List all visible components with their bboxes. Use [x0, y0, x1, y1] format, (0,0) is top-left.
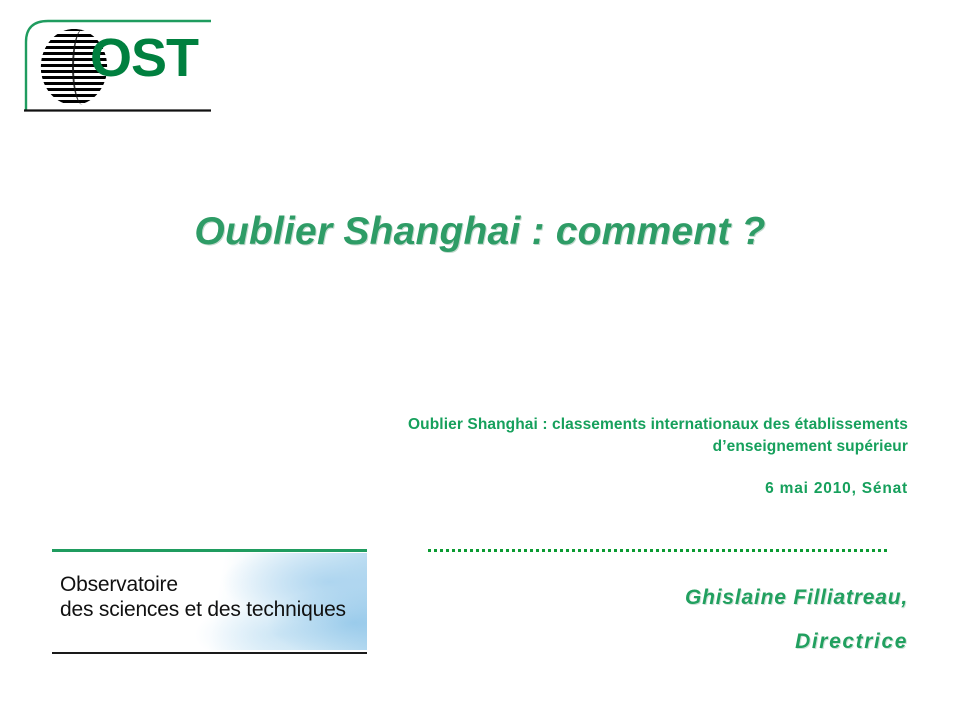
- observatoire-bottom-rule: [52, 652, 367, 654]
- title-slide: OST Oublier Shanghai : comment ? Oublier…: [0, 0, 960, 720]
- presenter-name: Ghislaine Filliatreau,: [488, 586, 908, 610]
- observatoire-logo-block: Observatoire des sciences et des techniq…: [52, 549, 367, 654]
- presenter-block: Ghislaine Filliatreau, Directrice: [488, 586, 908, 654]
- subtitle-line-2: d’enseignement supérieur: [268, 436, 908, 458]
- globe-meridian-icon: [72, 29, 90, 105]
- ost-logo: OST: [22, 18, 212, 112]
- subtitle-line-1: Oublier Shanghai : classements internati…: [268, 414, 908, 436]
- page-title: Oublier Shanghai : comment ?: [0, 210, 960, 254]
- observatoire-name: Observatoire des sciences et des techniq…: [60, 572, 346, 622]
- observatoire-top-rule: [52, 549, 367, 552]
- ost-wordmark: OST: [90, 30, 198, 86]
- event-date: 6 mai 2010, Sénat: [268, 480, 908, 498]
- observatoire-line-1: Observatoire: [60, 572, 346, 597]
- observatoire-line-2: des sciences et des techniques: [60, 597, 346, 622]
- dotted-separator: [428, 549, 890, 552]
- subtitle-block: Oublier Shanghai : classements internati…: [268, 414, 908, 498]
- presenter-role: Directrice: [488, 630, 908, 654]
